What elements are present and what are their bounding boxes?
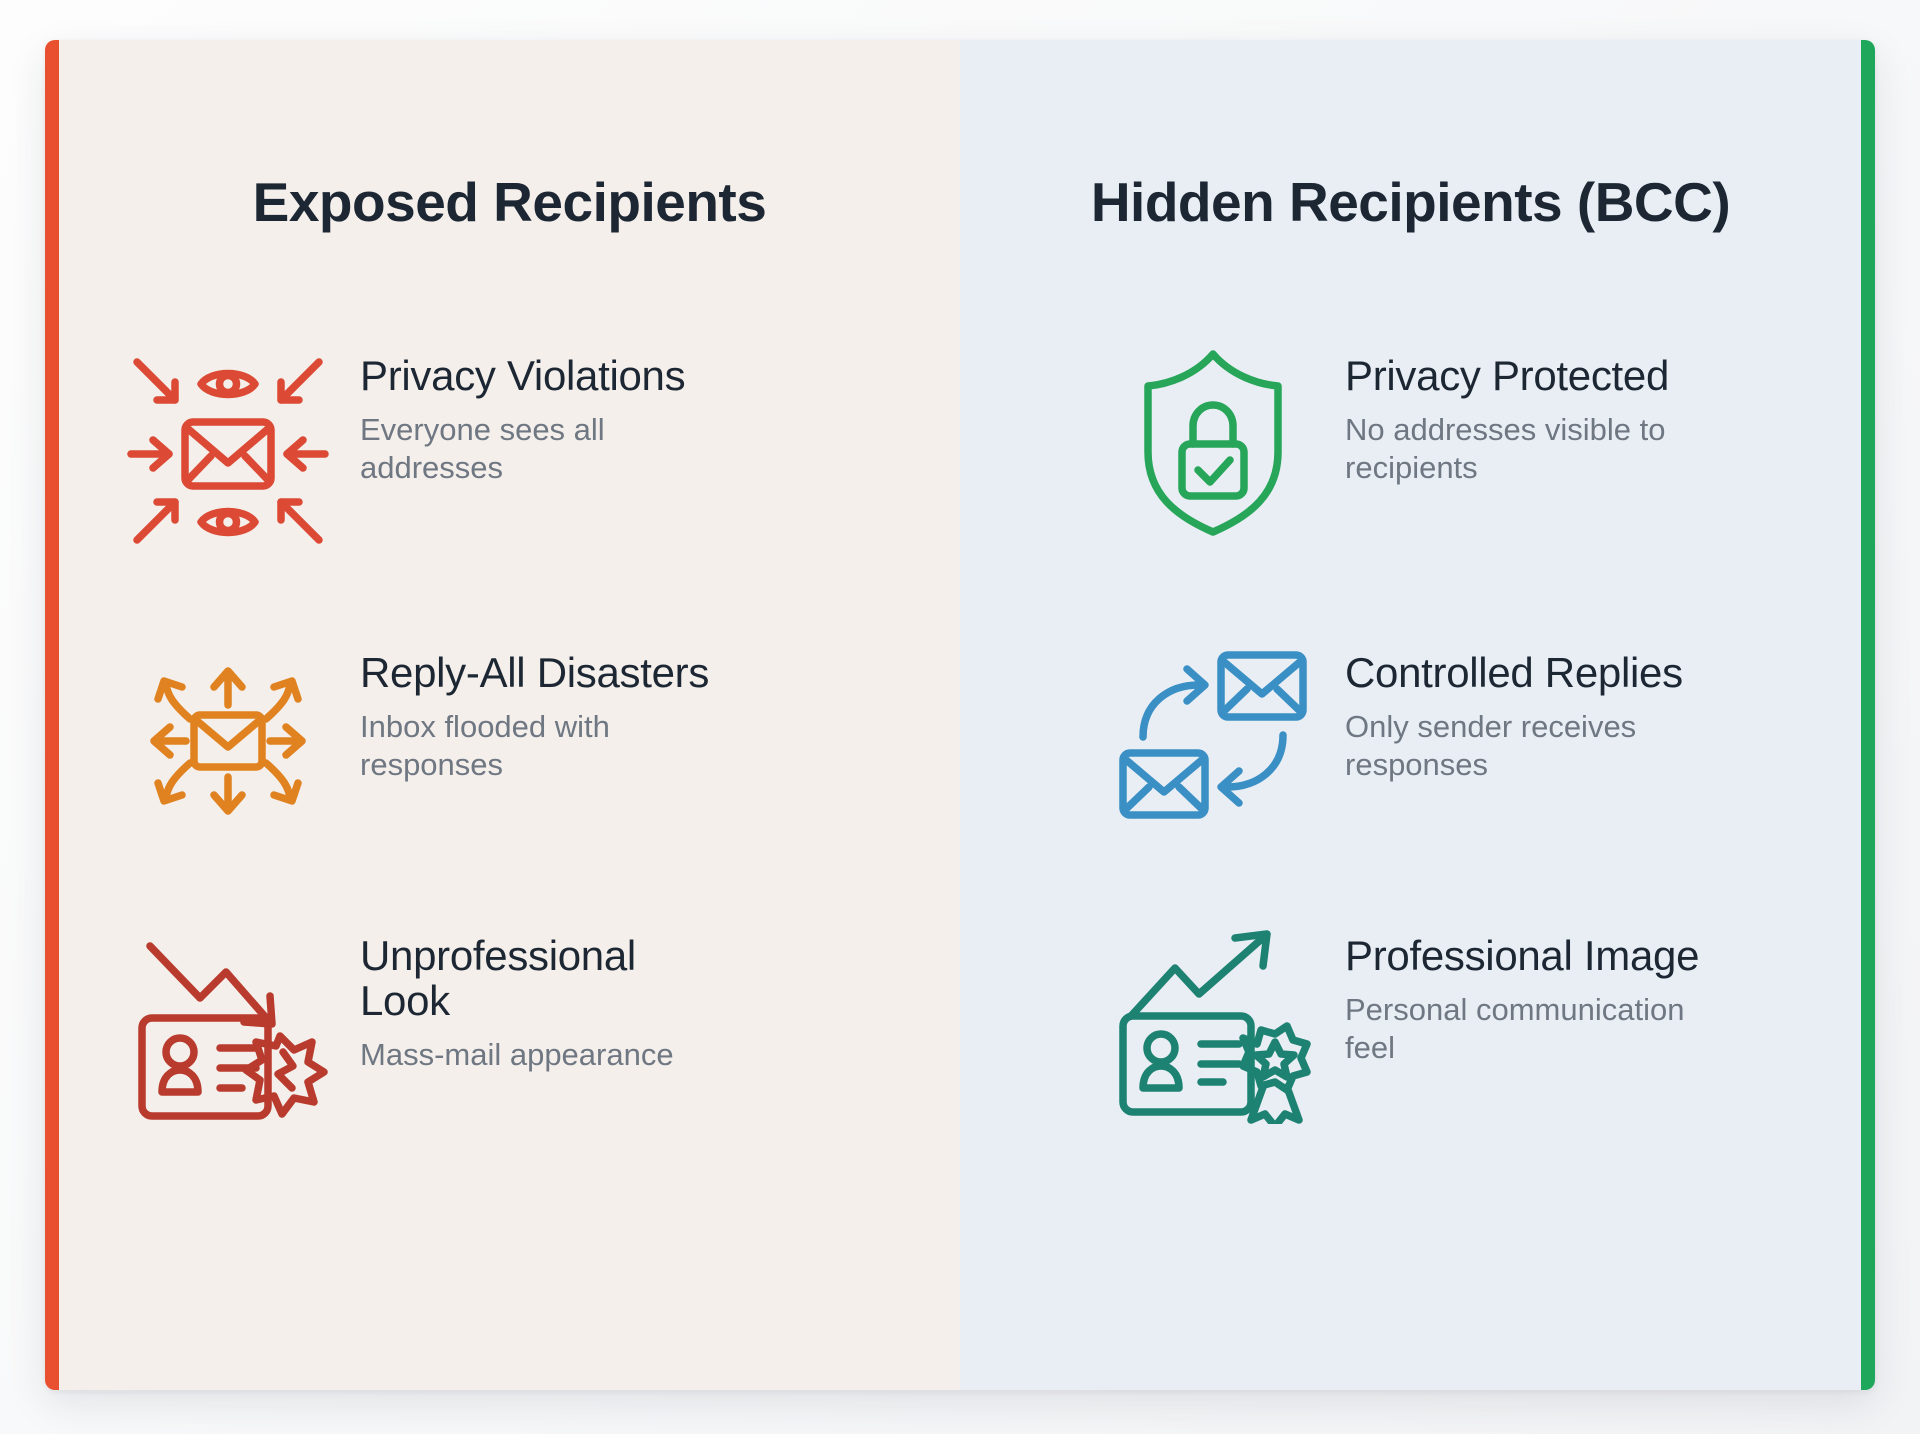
envelope-with-radiating-arrows-icon [95,637,360,841]
envelope-with-inward-arrows-and-eyes-icon [95,340,360,549]
list-item-text: Professional Image Personal communicatio… [1345,920,1745,1067]
list-item-text: Reply-All Disasters Inbox flooded with r… [360,637,760,784]
feature-title: Professional Image [1345,934,1715,979]
feature-description: Personal communication feel [1345,991,1715,1067]
infographic-canvas: Exposed Recipients [0,0,1920,1434]
feature-description: Only sender receives responses [1345,708,1715,784]
right-feature-list: Privacy Protected No addresses visible t… [960,340,1875,1340]
feature-title: Reply-All Disasters [360,651,730,696]
list-item: Unprofessional Look Mass-mail appearance [45,920,960,1170]
left-feature-list: Privacy Violations Everyone sees all add… [45,340,960,1340]
feature-description: Inbox flooded with responses [360,708,730,784]
right-panel-title: Hidden Recipients (BCC) [960,170,1875,234]
feature-description: Mass-mail appearance [360,1036,730,1074]
list-item: Professional Image Personal communicatio… [960,920,1875,1170]
list-item-text: Unprofessional Look Mass-mail appearance [360,920,760,1074]
comparison-card: Exposed Recipients [45,40,1875,1390]
list-item-text: Controlled Replies Only sender receives … [1345,637,1745,784]
shield-with-padlock-check-icon [1080,340,1345,539]
feature-title: Controlled Replies [1345,651,1715,696]
feature-title: Unprofessional Look [360,934,730,1024]
list-item: Reply-All Disasters Inbox flooded with r… [45,637,960,887]
left-panel-title: Exposed Recipients [45,170,960,234]
panel-exposed-recipients: Exposed Recipients [45,40,960,1390]
feature-description: No addresses visible to recipients [1345,411,1715,487]
two-envelopes-with-curved-arrows-icon [1080,637,1345,831]
feature-title: Privacy Violations [360,354,730,399]
list-item: Controlled Replies Only sender receives … [960,637,1875,887]
id-card-rising-arrow-award-badge-icon [1080,920,1345,1124]
panel-hidden-recipients: Hidden Recipients (BCC) [960,40,1875,1390]
id-card-declining-arrow-broken-badge-icon [95,920,360,1124]
list-item-text: Privacy Protected No addresses visible t… [1345,340,1745,487]
feature-description: Everyone sees all addresses [360,411,730,487]
list-item-text: Privacy Violations Everyone sees all add… [360,340,760,487]
list-item: Privacy Violations Everyone sees all add… [45,340,960,590]
feature-title: Privacy Protected [1345,354,1715,399]
list-item: Privacy Protected No addresses visible t… [960,340,1875,590]
